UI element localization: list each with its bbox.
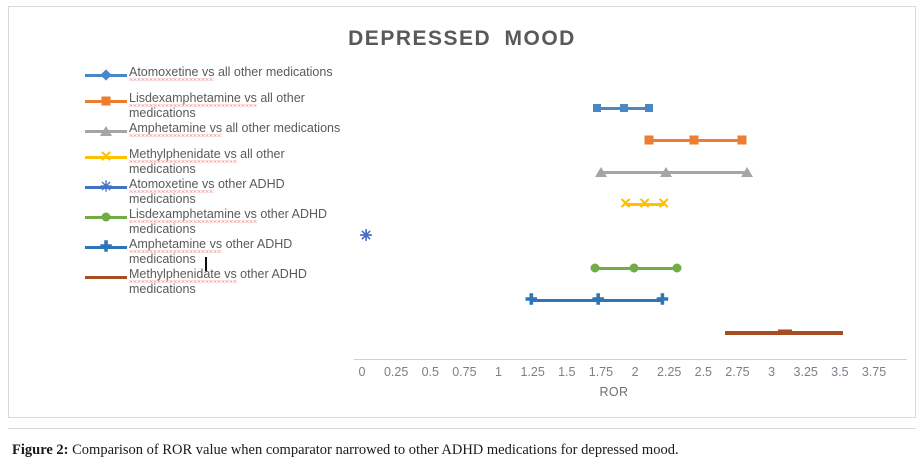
square-marker-icon <box>737 136 746 145</box>
square-marker-icon <box>102 97 111 106</box>
x-axis-tick-label: 0.5 <box>422 365 439 379</box>
text-cursor-artifact <box>205 257 207 271</box>
legend-item-methylphenidate-vs-all-other-medications[interactable]: ✕Methylphenidate vs all other medication… <box>83 147 341 176</box>
legend-key-marker: ✳ <box>100 180 113 195</box>
circle-marker-icon <box>673 264 682 273</box>
diamond-marker-icon <box>100 69 111 80</box>
legend-item-label: Lisdexamphetamine vs all other medicatio… <box>129 91 341 120</box>
chart-panel: DEPRESSED MOOD Atomoxetine vs all other … <box>8 6 916 418</box>
plus-marker-icon: ✚ <box>656 293 669 308</box>
legend-key-swatch <box>83 269 129 285</box>
triangle-marker-icon <box>741 167 753 177</box>
x-axis-tick-label: 1.5 <box>558 365 575 379</box>
triangle-marker-icon <box>660 167 672 177</box>
series-triangle <box>601 163 747 181</box>
x-axis-tick-label: 0.75 <box>452 365 476 379</box>
asterisk-marker-icon: ✳ <box>360 229 373 244</box>
square-marker-icon <box>689 136 698 145</box>
line-marker-icon <box>778 330 792 335</box>
x-axis-tick-label: 2 <box>632 365 639 379</box>
legend-key-marker <box>102 71 110 79</box>
circle-marker-icon <box>629 264 638 273</box>
series-diamond <box>597 99 649 117</box>
legend-item-label: Atomoxetine vs all other medications <box>129 65 333 80</box>
diamond-marker-icon <box>620 104 628 112</box>
chart-title: DEPRESSED MOOD <box>9 27 915 51</box>
figure-caption-text: Comparison of ROR value when comparator … <box>69 442 679 458</box>
legend-item-label: Methylphenidate vs all other medications <box>129 147 341 176</box>
x-axis-line <box>354 359 907 360</box>
x-marker-icon: ✕ <box>657 197 670 212</box>
plus-marker-icon: ✚ <box>525 293 538 308</box>
series-square <box>649 131 742 149</box>
x-axis-tick-label: 3.75 <box>862 365 886 379</box>
plus-marker-icon: ✚ <box>592 293 605 308</box>
legend-item-amphetamine-vs-all-other-medications[interactable]: Amphetamine vs all other medications <box>83 121 341 146</box>
legend-key-swatch: ✳ <box>83 179 129 195</box>
legend-key-marker: ✚ <box>100 240 113 255</box>
series-x: ✕✕✕ <box>626 195 664 213</box>
x-axis-tick-label: 1.25 <box>520 365 544 379</box>
legend-item-amphetamine-vs-other-adhd-medications[interactable]: ✚Amphetamine vs other ADHD medications <box>83 237 341 266</box>
triangle-marker-icon <box>595 167 607 177</box>
circle-marker-icon <box>102 213 111 222</box>
legend-item-label: Amphetamine vs all other medications <box>129 121 340 136</box>
legend-key-swatch <box>83 123 129 139</box>
confidence-interval-line <box>601 171 747 174</box>
x-axis-tick-label: 1 <box>495 365 502 379</box>
x-axis-tick-label: 2.5 <box>695 365 712 379</box>
legend-label-rest: all other medications <box>222 121 340 135</box>
x-marker-icon: ✕ <box>100 150 113 165</box>
legend-label-underlined-part: Amphetamine vs <box>129 121 222 137</box>
legend-item-methylphenidate-vs-other-adhd-medications[interactable]: Methylphenidate vs other ADHD medication… <box>83 267 341 296</box>
legend-key-swatch <box>83 209 129 225</box>
x-axis-tick-label: 3 <box>768 365 775 379</box>
x-marker-icon: ✕ <box>638 197 651 212</box>
x-axis-tick-label: 2.75 <box>725 365 749 379</box>
caption-divider <box>8 428 916 429</box>
legend-key-line <box>85 276 127 279</box>
series-container: ✕✕✕✳✳✳✚✚✚ <box>354 59 909 359</box>
legend-item-label: Amphetamine vs other ADHD medications <box>129 237 341 266</box>
legend-key-swatch: ✚ <box>83 239 129 255</box>
plot-area: ✕✕✕✳✳✳✚✚✚ 00.250.50.7511.251.51.7522.252… <box>354 59 909 359</box>
x-axis-tick-label: 0.25 <box>384 365 408 379</box>
asterisk-marker-icon: ✳ <box>100 180 113 195</box>
series-line <box>725 323 842 341</box>
figure-caption: Figure 2: Comparison of ROR value when c… <box>12 442 912 459</box>
diamond-marker-icon <box>645 104 653 112</box>
series-asterisk: ✳✳✳ <box>366 227 367 245</box>
diamond-marker-icon <box>593 104 601 112</box>
square-marker-icon <box>644 136 653 145</box>
x-axis-tick-label: 3.25 <box>794 365 818 379</box>
figure-caption-label: Figure 2: <box>12 442 69 458</box>
x-axis-tick-label: 2.25 <box>657 365 681 379</box>
x-axis-ticks: 00.250.50.7511.251.51.7522.252.52.7533.2… <box>354 365 909 383</box>
plus-marker-icon: ✚ <box>100 240 113 255</box>
legend-item-label: Atomoxetine vs other ADHD medications <box>129 177 341 206</box>
legend-label-underlined-part: Atomoxetine vs <box>129 65 214 81</box>
x-axis-tick-label: 1.75 <box>589 365 613 379</box>
triangle-marker-icon <box>100 126 112 136</box>
legend-item-label: Methylphenidate vs other ADHD medication… <box>129 267 341 296</box>
legend-item-label: Lisdexamphetamine vs other ADHD medicati… <box>129 207 341 236</box>
x-axis-title: ROR <box>354 385 874 399</box>
legend-key-swatch <box>83 67 129 83</box>
legend-key-marker: ✕ <box>100 150 113 165</box>
chart-legend: Atomoxetine vs all other medicationsLisd… <box>83 65 341 297</box>
legend-key-swatch <box>83 93 129 109</box>
legend-key-marker <box>102 213 111 222</box>
legend-item-lisdexamphetamine-vs-all-other-medications[interactable]: Lisdexamphetamine vs all other medicatio… <box>83 91 341 120</box>
legend-item-lisdexamphetamine-vs-other-adhd-medications[interactable]: Lisdexamphetamine vs other ADHD medicati… <box>83 207 341 236</box>
legend-key-marker <box>100 126 112 136</box>
series-circle <box>595 259 677 277</box>
series-plus: ✚✚✚ <box>531 291 662 309</box>
legend-label-rest: all other medications <box>214 65 332 79</box>
legend-item-atomoxetine-vs-all-other-medications[interactable]: Atomoxetine vs all other medications <box>83 65 341 90</box>
legend-key-swatch: ✕ <box>83 149 129 165</box>
x-marker-icon: ✕ <box>619 197 632 212</box>
x-axis-tick-label: 3.5 <box>831 365 848 379</box>
legend-item-atomoxetine-vs-other-adhd-medications[interactable]: ✳Atomoxetine vs other ADHD medications <box>83 177 341 206</box>
circle-marker-icon <box>591 264 600 273</box>
x-axis-tick-label: 0 <box>359 365 366 379</box>
legend-key-marker <box>102 97 111 106</box>
figure-container: DEPRESSED MOOD Atomoxetine vs all other … <box>0 0 924 473</box>
